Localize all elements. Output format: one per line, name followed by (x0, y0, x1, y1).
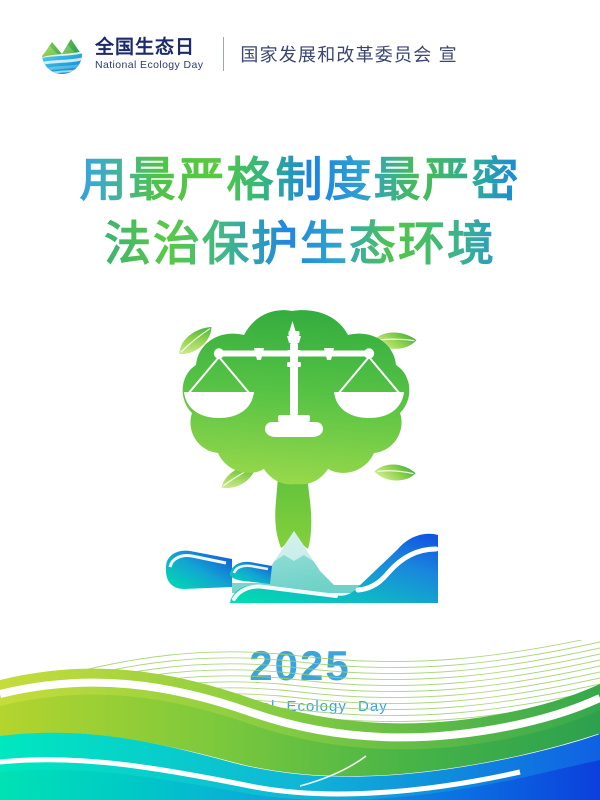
poster-title: 用最严格制度最严密 法治保护生态环境 (0, 148, 600, 276)
logo-title-en: National Ecology Day (95, 60, 203, 71)
poster-header: 全国生态日 National Ecology Day 国家发展和改革委员会 宣 (38, 30, 458, 78)
ecology-mountain-water-logo-icon (38, 30, 86, 78)
poster-canvas: 全国生态日 National Ecology Day 国家发展和改革委员会 宣 … (0, 0, 600, 800)
tree-scales-hand-illustration (160, 305, 440, 605)
organization-label: 国家发展和改革委员会 宣 (240, 41, 457, 67)
logo-wordmark: 全国生态日 National Ecology Day (95, 38, 203, 71)
title-line-1: 用最严格制度最严密 (0, 148, 600, 212)
logo-title-cn: 全国生态日 (95, 38, 203, 57)
header-divider (223, 37, 224, 71)
title-line-2: 法治保护生态环境 (0, 212, 600, 276)
wave-decoration (0, 640, 600, 800)
